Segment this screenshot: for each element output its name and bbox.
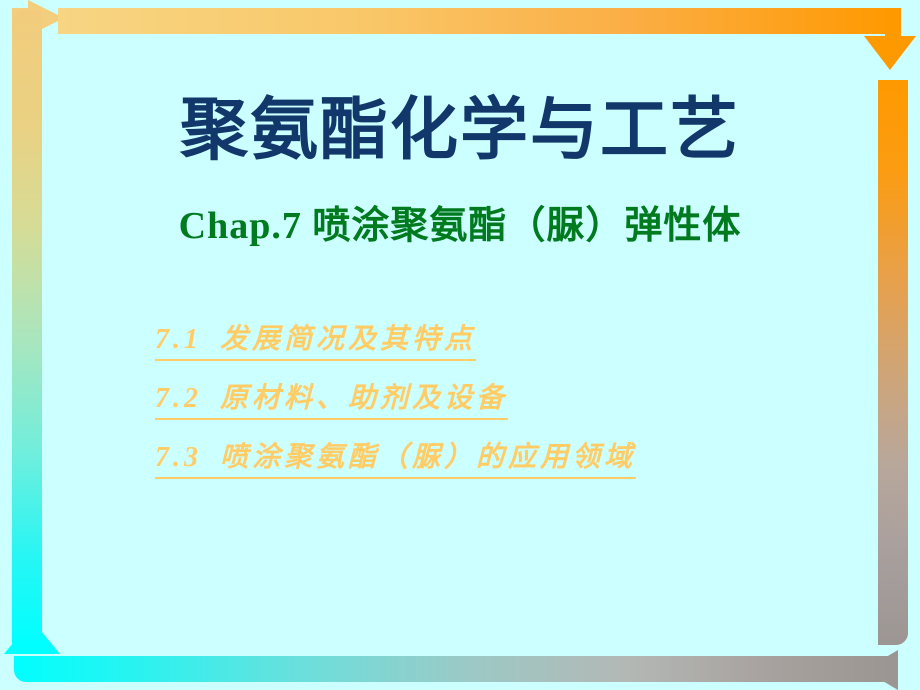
chapter-subtitle: Chap.7 喷涂聚氨酯（脲）弹性体 xyxy=(0,206,920,248)
toc-row: 7.1发展简况及其特点 xyxy=(155,322,855,381)
slide-content: 聚氨酯化学与工艺 Chap.7 喷涂聚氨酯（脲）弹性体 7.1发展简况及其特点 … xyxy=(0,0,920,690)
toc-item-number: 7.2 xyxy=(155,383,202,414)
toc-item-number: 7.3 xyxy=(155,442,202,473)
table-of-contents: 7.1发展简况及其特点 7.2原材料、助剂及设备 7.3喷涂聚氨酯（脲）的应用领… xyxy=(155,322,855,499)
toc-row: 7.2原材料、助剂及设备 xyxy=(155,381,855,440)
toc-item-label: 原材料、助剂及设备 xyxy=(220,383,508,414)
list-item[interactable]: 7.3喷涂聚氨酯（脲）的应用领域 xyxy=(155,440,636,479)
toc-item-label: 喷涂聚氨酯（脲）的应用领域 xyxy=(220,442,636,473)
toc-row: 7.3喷涂聚氨酯（脲）的应用领域 xyxy=(155,440,855,499)
page-title: 聚氨酯化学与工艺 xyxy=(0,96,920,164)
list-item[interactable]: 7.2原材料、助剂及设备 xyxy=(155,381,508,420)
toc-item-number: 7.1 xyxy=(155,324,202,355)
list-item[interactable]: 7.1发展简况及其特点 xyxy=(155,322,476,361)
slide-canvas: 聚氨酯化学与工艺 Chap.7 喷涂聚氨酯（脲）弹性体 7.1发展简况及其特点 … xyxy=(0,0,920,690)
toc-item-label: 发展简况及其特点 xyxy=(220,324,476,355)
